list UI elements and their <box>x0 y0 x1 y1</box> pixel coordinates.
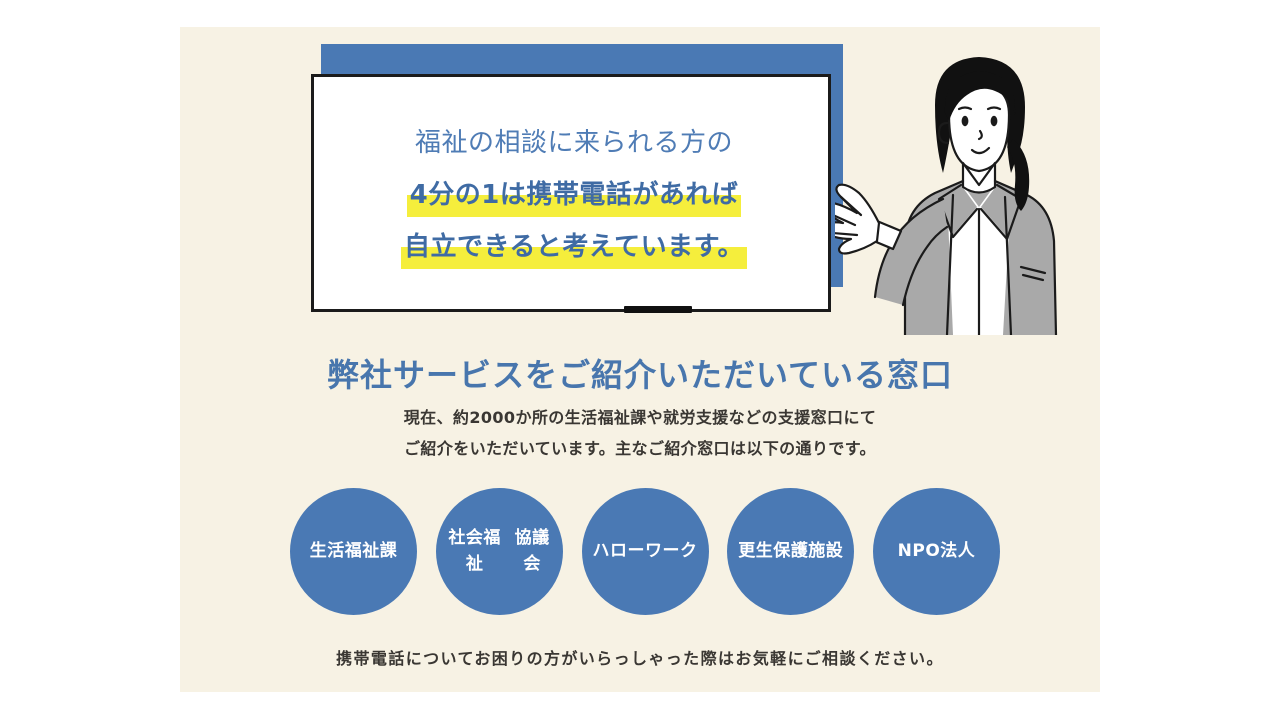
footer-note: 携帯電話についてお困りの方がいらっしゃった際はお気軽にご相談ください。 <box>180 645 1100 669</box>
whiteboard-text: 福祉の相談に来られる方の 4分の1は携帯電話があれば 自立できると考えています。 <box>314 117 834 273</box>
referral-channel-list: 生活福祉課 社会福祉協議会 ハローワーク 更生保護施設 NPO法人 <box>290 485 1000 617</box>
slide-stage: 福祉の相談に来られる方の 4分の1は携帯電話があれば 自立できると考えています。 <box>0 0 1280 720</box>
circle-badge-5: NPO法人 <box>873 488 1000 615</box>
slide-content-area: 福祉の相談に来られる方の 4分の1は携帯電話があれば 自立できると考えています。 <box>180 27 1100 692</box>
whiteboard-line-1: 福祉の相談に来られる方の <box>314 117 834 169</box>
whiteboard-line-3-text: 自立できると考えています。 <box>404 232 744 262</box>
presenter-illustration <box>835 35 1085 335</box>
circle-badge-4: 更生保護施設 <box>727 488 854 615</box>
whiteboard: 福祉の相談に来られる方の 4分の1は携帯電話があれば 自立できると考えています。 <box>311 74 831 312</box>
circle-badge-2: 社会福祉協議会 <box>436 488 563 615</box>
lead-line-2: ご紹介をいただいています。主なご紹介窓口は以下の通りです。 <box>180 433 1100 464</box>
whiteboard-line-3: 自立できると考えています。 <box>314 221 834 273</box>
whiteboard-line-2: 4分の1は携帯電話があれば <box>314 169 834 221</box>
whiteboard-line-2-text: 4分の1は携帯電話があれば <box>410 180 739 210</box>
lead-paragraph: 現在、約2000か所の生活福祉課や就労支援などの支援窓口にて ご紹介をいただいて… <box>180 402 1100 464</box>
page-title: 弊社サービスをご紹介いただいている窓口 <box>180 350 1100 396</box>
whiteboard-marker-tray <box>624 306 692 313</box>
circle-badge-3: ハローワーク <box>582 488 709 615</box>
circle-badge-1: 生活福祉課 <box>290 488 417 615</box>
lead-line-1: 現在、約2000か所の生活福祉課や就労支援などの支援窓口にて <box>180 402 1100 433</box>
